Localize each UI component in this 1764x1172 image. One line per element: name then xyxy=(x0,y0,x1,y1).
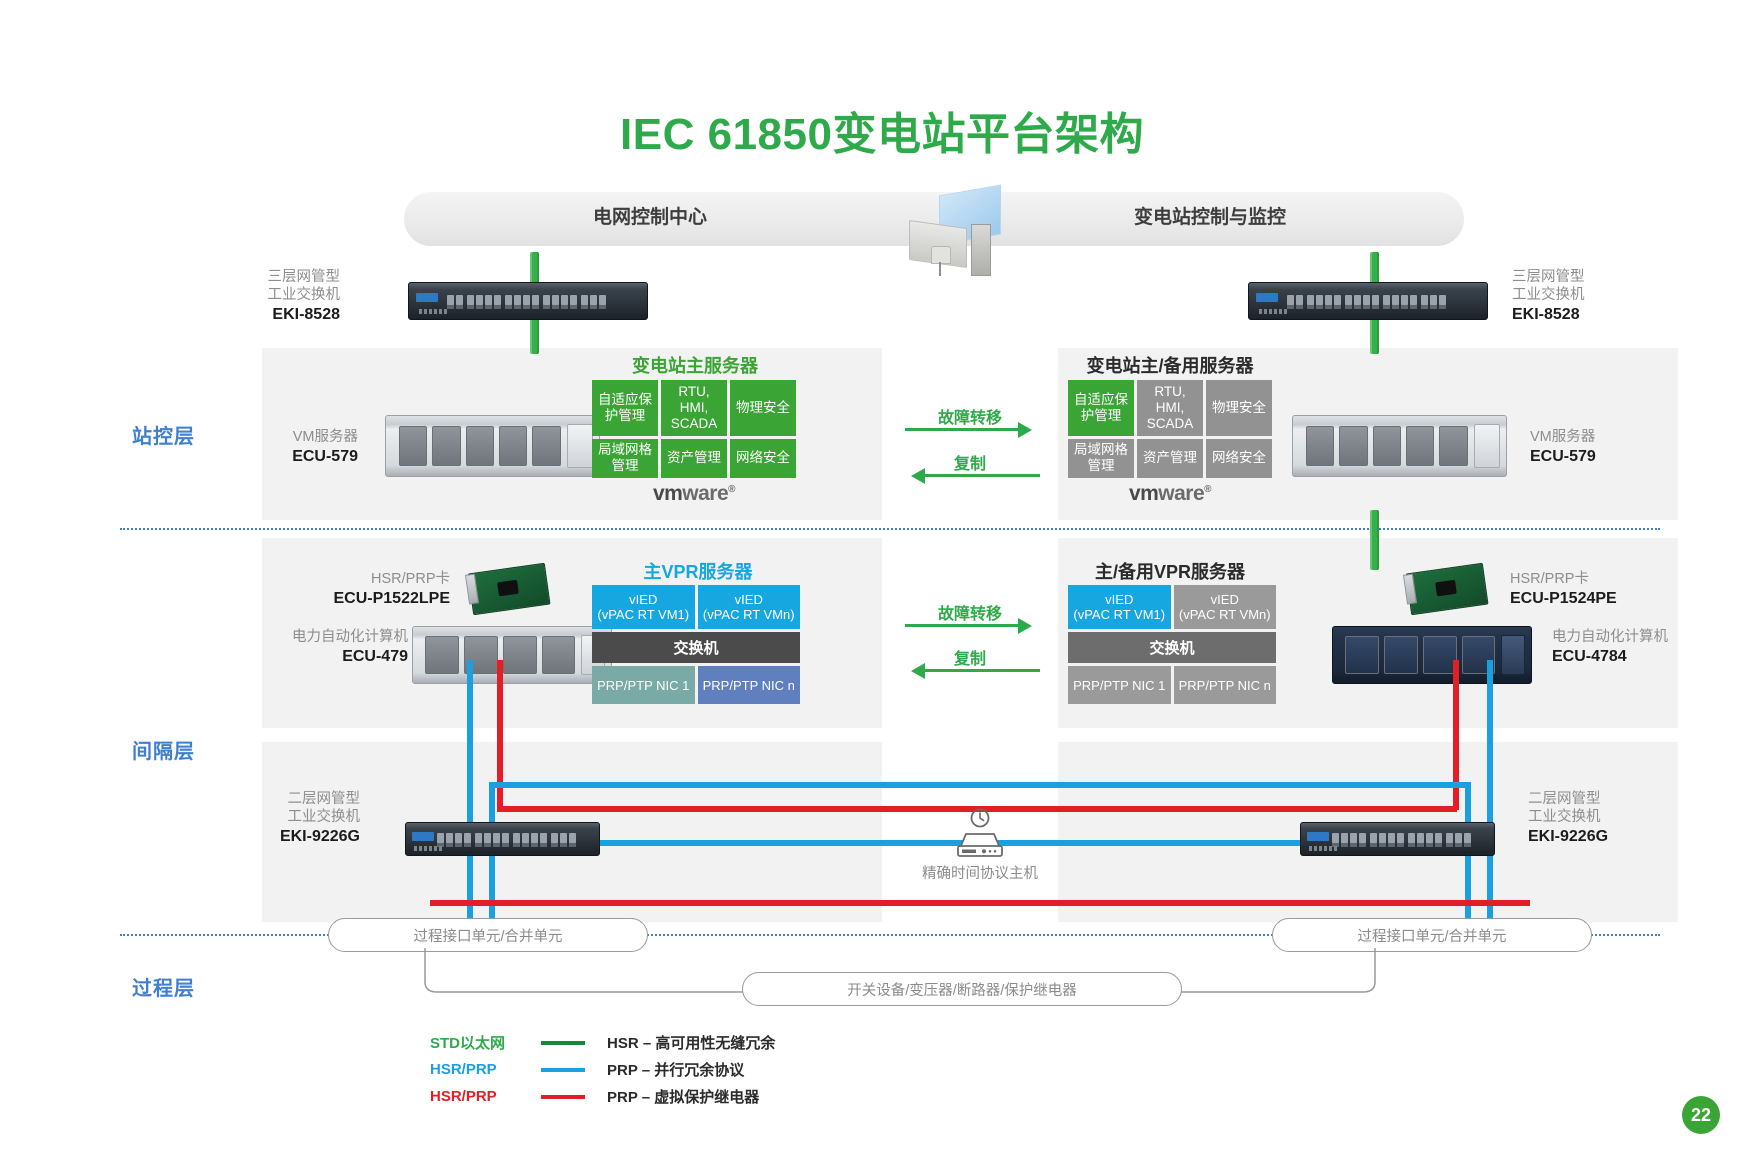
vm-server-left[interactable] xyxy=(385,415,600,477)
switch-l3-left-model: EKI-8528 xyxy=(220,306,340,324)
ptp-host-label: 精确时间协议主机 xyxy=(860,862,1100,883)
divider-station-bay xyxy=(120,528,1660,530)
station-replicate-arrow-line xyxy=(925,474,1040,477)
station-left-cell-4[interactable]: 资产管理 xyxy=(661,439,727,479)
legend-name-2: HSR/PRP xyxy=(430,1088,535,1105)
station-right-hypervisor-logo: vmware® xyxy=(1068,482,1272,506)
station-left-cell-5[interactable]: 网络安全 xyxy=(730,439,796,479)
switch-l2-right[interactable] xyxy=(1300,822,1495,856)
pac-right-type: 电力自动化计算机 xyxy=(1552,629,1668,645)
pac-left-caption: 电力自动化计算机 ECU-479 xyxy=(258,628,408,666)
vm-server-left-model: ECU-579 xyxy=(248,448,358,466)
pac-left-type: 电力自动化计算机 xyxy=(292,629,408,645)
vmware-wordmark: ware xyxy=(682,482,728,505)
layer-label-station: 站控层 xyxy=(132,420,195,449)
bay-left-nic-1[interactable]: PRP/PTP NIC 1 xyxy=(592,666,695,704)
vm-server-right-type: VM服务器 xyxy=(1530,429,1595,445)
bay-left-vpr-stack: vIED (vPAC RT VM1) vIED (vPAC RT VMn) 交换… xyxy=(592,585,800,707)
switch-l3-right-type2: 工业交换机 xyxy=(1512,287,1585,303)
bay-right-vied-n[interactable]: vIED (vPAC RT VMn) xyxy=(1174,585,1277,629)
legend-desc-0: HSR – 高可用性无缝冗余 xyxy=(607,1032,775,1053)
bay-failover-arrow-head xyxy=(1018,618,1032,634)
vm-server-left-type: VM服务器 xyxy=(293,429,358,445)
bay-left-switch-bar[interactable]: 交换机 xyxy=(592,632,800,663)
bay-failover-label: 故障转移 xyxy=(905,600,1035,624)
bay-left-vpr-title: 主VPR服务器 xyxy=(590,558,806,584)
bay-right-vpr-stack: vIED (vPAC RT VM1) vIED (vPAC RT VMn) 交换… xyxy=(1068,585,1276,707)
switch-l3-left-caption: 三层网管型 工业交换机 EKI-8528 xyxy=(220,268,340,324)
std-link-right-bay xyxy=(1370,510,1379,570)
control-room-icon xyxy=(905,190,1015,280)
pac-left-model: ECU-479 xyxy=(258,648,408,666)
station-right-cell-5[interactable]: 网络安全 xyxy=(1206,439,1272,479)
process-unit-right[interactable]: 过程接口单元/合并单元 xyxy=(1272,918,1592,952)
hsr-card-left-type: HSR/PRP卡 xyxy=(371,571,450,587)
station-left-server-grid: 自适应保护管理 RTU, HMI, SCADA 物理安全 局域网格管理 资产管理… xyxy=(592,380,796,478)
station-right-cell-1[interactable]: RTU, HMI, SCADA xyxy=(1137,380,1203,436)
legend: STD以太网 HSR – 高可用性无缝冗余 HSR/PRP PRP – 并行冗余… xyxy=(430,1030,775,1111)
station-right-cell-0[interactable]: 自适应保护管理 xyxy=(1068,380,1134,436)
bay-failover-arrow-line xyxy=(905,624,1020,627)
switchgear-bar[interactable]: 开关设备/变压器/断路器/保护继电器 xyxy=(742,972,1182,1006)
hsr-prp-card-right[interactable] xyxy=(1408,568,1486,610)
cable-blue-right-vertical xyxy=(1487,660,1493,930)
switchgear-label: 开关设备/变压器/断路器/保护继电器 xyxy=(847,979,1077,1000)
cable-blue-right-riser xyxy=(1465,782,1471,932)
legend-desc-2: PRP – 虚拟保护继电器 xyxy=(607,1086,759,1107)
bay-replicate-arrow-head xyxy=(911,663,925,679)
switch-l3-right[interactable] xyxy=(1248,282,1488,320)
station-right-server-title: 变电站主/备用服务器 xyxy=(1030,352,1310,378)
station-replicate-arrow-head xyxy=(911,468,925,484)
bay-left-nic-n[interactable]: PRP/PTP NIC n xyxy=(698,666,801,704)
legend-row-0: STD以太网 HSR – 高可用性无缝冗余 xyxy=(430,1030,775,1055)
legend-line-1 xyxy=(541,1068,585,1072)
hsr-card-right-type: HSR/PRP卡 xyxy=(1510,571,1589,587)
process-unit-right-label: 过程接口单元/合并单元 xyxy=(1357,925,1506,946)
legend-row-2: HSR/PRP PRP – 虚拟保护继电器 xyxy=(430,1084,775,1109)
station-left-cell-0[interactable]: 自适应保护管理 xyxy=(592,380,658,436)
legend-desc-1: PRP – 并行冗余协议 xyxy=(607,1059,744,1080)
diagram-canvas: IEC 61850变电站平台架构 站控层 间隔层 过程层 电网控制中心 变电站控… xyxy=(0,0,1764,1172)
hsr-card-left-caption: HSR/PRP卡 ECU-P1522LPE xyxy=(300,570,450,608)
legend-line-2 xyxy=(541,1095,585,1099)
station-failover-arrow-head xyxy=(1018,422,1032,438)
substation-control-label: 变电站控制与监控 xyxy=(1050,202,1370,229)
layer-label-bay: 间隔层 xyxy=(132,735,195,764)
station-right-server-grid: 自适应保护管理 RTU, HMI, SCADA 物理安全 局域网格管理 资产管理… xyxy=(1068,380,1272,478)
cable-blue-left-vertical xyxy=(467,660,473,930)
switch-l2-left-model: EKI-9226G xyxy=(230,828,360,846)
hsr-card-right-model: ECU-P1524PE xyxy=(1510,590,1680,608)
bay-right-vpr-title: 主/备用VPR服务器 xyxy=(1030,558,1310,584)
grid-control-center-label: 电网控制中心 xyxy=(500,202,800,229)
pac-right-caption: 电力自动化计算机 ECU-4784 xyxy=(1552,628,1712,666)
vm-server-right-model: ECU-579 xyxy=(1530,448,1650,466)
hsr-card-right-caption: HSR/PRP卡 ECU-P1524PE xyxy=(1510,570,1680,608)
station-left-cell-1[interactable]: RTU, HMI, SCADA xyxy=(661,380,727,436)
bay-left-vied-n[interactable]: vIED (vPAC RT VMn) xyxy=(698,585,801,629)
switch-l3-right-caption: 三层网管型 工业交换机 EKI-8528 xyxy=(1512,268,1642,324)
station-right-cell-2[interactable]: 物理安全 xyxy=(1206,380,1272,436)
legend-name-0: STD以太网 xyxy=(430,1032,535,1053)
bay-right-switch-bar[interactable]: 交换机 xyxy=(1068,632,1276,663)
legend-row-1: HSR/PRP PRP – 并行冗余协议 xyxy=(430,1057,775,1082)
legend-name-1: HSR/PRP xyxy=(430,1061,535,1078)
station-left-server-title: 变电站主服务器 xyxy=(585,352,805,378)
process-unit-left[interactable]: 过程接口单元/合并单元 xyxy=(328,918,648,952)
hsr-prp-card-left[interactable] xyxy=(470,568,548,610)
ptp-host-icon xyxy=(938,808,1022,860)
bay-right-nic-1[interactable]: PRP/PTP NIC 1 xyxy=(1068,666,1171,704)
vm-server-left-caption: VM服务器 ECU-579 xyxy=(248,428,358,466)
bay-right-nic-n[interactable]: PRP/PTP NIC n xyxy=(1174,666,1277,704)
cable-blue-bus-upper xyxy=(489,782,1469,788)
switch-l3-left-type1: 三层网管型 xyxy=(268,269,341,285)
cable-blue-left-riser xyxy=(489,782,495,932)
switch-l2-left-type1: 二层网管型 xyxy=(288,791,361,807)
bay-replicate-arrow-line xyxy=(925,669,1040,672)
legend-line-0 xyxy=(541,1041,585,1045)
cable-red-bus-lower xyxy=(430,900,1530,906)
switch-l2-left-caption: 二层网管型 工业交换机 EKI-9226G xyxy=(230,790,360,846)
switch-l3-left[interactable] xyxy=(408,282,648,320)
layer-label-process: 过程层 xyxy=(132,972,195,1001)
switch-l3-right-model: EKI-8528 xyxy=(1512,306,1642,324)
station-left-cell-2[interactable]: 物理安全 xyxy=(730,380,796,436)
station-right-cell-4[interactable]: 资产管理 xyxy=(1137,439,1203,479)
switch-l2-right-type2: 工业交换机 xyxy=(1528,809,1601,825)
vm-server-right[interactable] xyxy=(1292,415,1507,477)
switch-l3-left-type2: 工业交换机 xyxy=(268,287,341,303)
switch-l2-left-type2: 工业交换机 xyxy=(288,809,361,825)
hsr-card-left-model: ECU-P1522LPE xyxy=(300,590,450,608)
station-failover-label: 故障转移 xyxy=(905,404,1035,428)
pac-left[interactable] xyxy=(412,626,612,684)
process-unit-left-label: 过程接口单元/合并单元 xyxy=(413,925,562,946)
station-failover-arrow-line xyxy=(905,428,1020,431)
vm-server-right-caption: VM服务器 ECU-579 xyxy=(1530,428,1650,466)
station-left-hypervisor-logo: vmware® xyxy=(592,482,796,506)
switch-l3-right-type1: 三层网管型 xyxy=(1512,269,1585,285)
pac-right[interactable] xyxy=(1332,626,1532,684)
switch-l2-right-caption: 二层网管型 工业交换机 EKI-9226G xyxy=(1528,790,1668,846)
switch-l2-right-type1: 二层网管型 xyxy=(1528,791,1601,807)
page-number-badge: 22 xyxy=(1682,1096,1720,1134)
pac-right-model: ECU-4784 xyxy=(1552,648,1712,666)
station-left-cell-3[interactable]: 局域网格管理 xyxy=(592,439,658,479)
switch-l2-right-model: EKI-9226G xyxy=(1528,828,1668,846)
bay-right-vied-1[interactable]: vIED (vPAC RT VM1) xyxy=(1068,585,1171,629)
station-right-cell-3[interactable]: 局域网格管理 xyxy=(1068,439,1134,479)
page-title: IEC 61850变电站平台架构 xyxy=(0,98,1764,162)
switch-l2-left[interactable] xyxy=(405,822,600,856)
bay-left-vied-1[interactable]: vIED (vPAC RT VM1) xyxy=(592,585,695,629)
